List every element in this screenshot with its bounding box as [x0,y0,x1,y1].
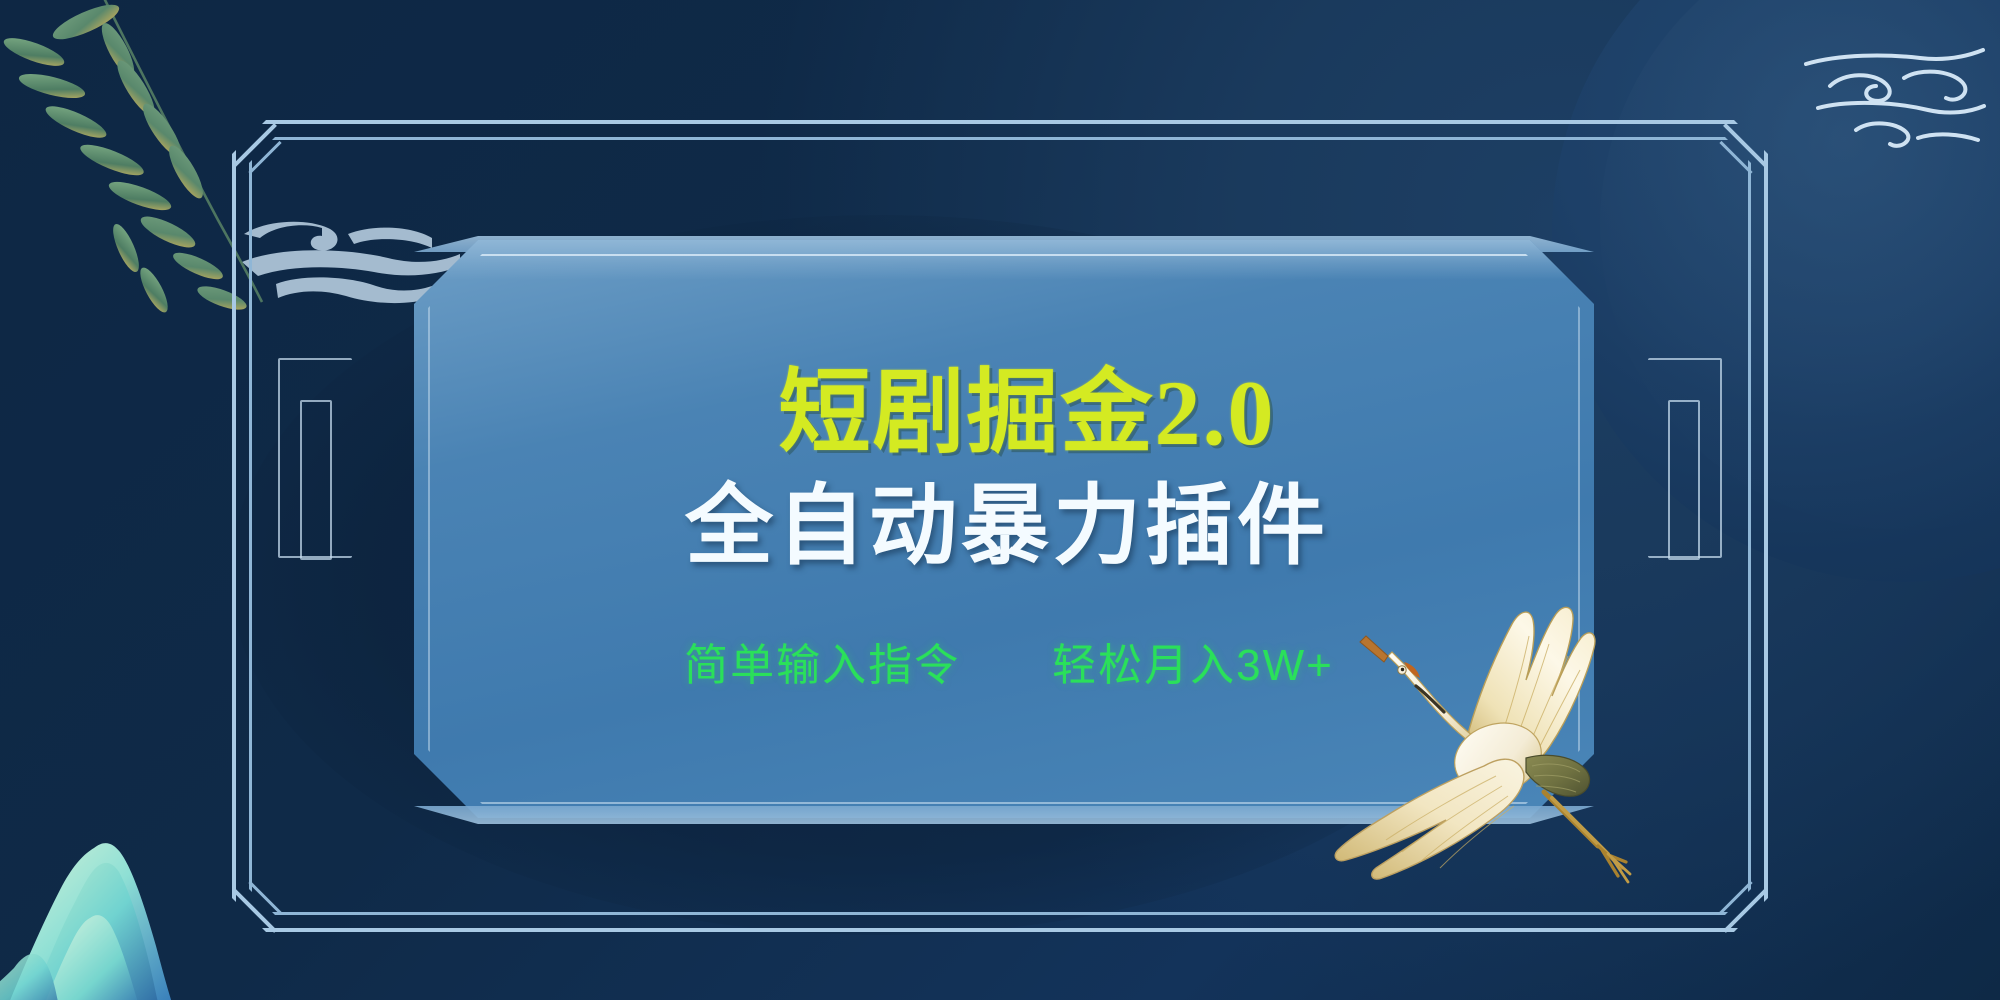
cloud-motif-top-right-icon [1800,42,1990,162]
poster-tagline-row: 简单输入指令 轻松月入3W+ [684,629,1334,693]
bracket-ornament-right-inner [1668,400,1700,560]
poster-tagline-2: 轻松月入3W+ [1052,629,1334,693]
poster-title-sub: 全自动暴力插件 [685,480,1329,577]
poster-canvas: 短剧掘金2.0 全自动暴力插件 简单输入指令 轻松月入3W+ [0,0,2000,1000]
poster-tagline-1: 简单输入指令 [684,629,960,693]
bracket-ornament-left-inner [300,400,332,560]
flying-crane-icon [1330,600,1660,890]
poster-title-main: 短剧掘金2.0 [778,365,1275,463]
